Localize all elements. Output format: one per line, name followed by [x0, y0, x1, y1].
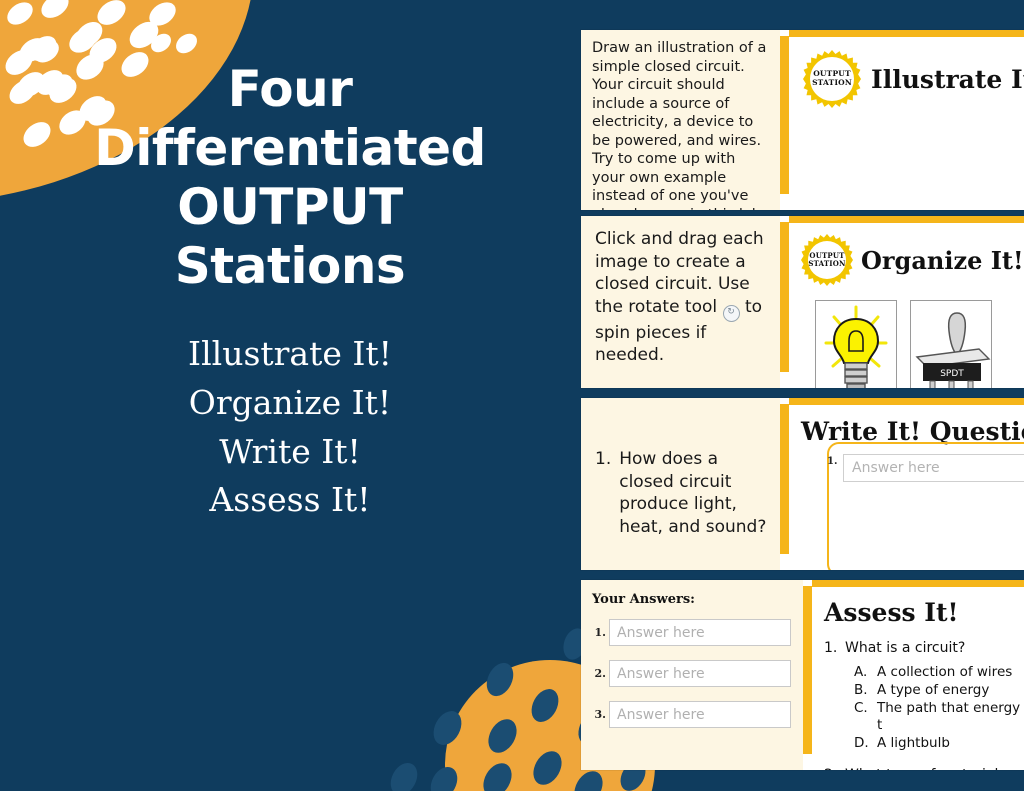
assess-question-number: 2: [824, 767, 836, 770]
assess-answer-input[interactable]: Answer here: [609, 619, 791, 646]
assess-answer-row[interactable]: 2. Answer here: [592, 660, 791, 687]
write-question-text: How does a closed circuit produce light,…: [619, 448, 768, 538]
station-list-item-organize: Organize It!: [30, 379, 550, 428]
assess-choice-letter: D.: [854, 735, 868, 753]
write-answer-number: 1.: [827, 456, 837, 467]
badge-line-2: STATION: [808, 260, 845, 268]
assess-choice[interactable]: B. A type of energy: [854, 682, 1024, 700]
card-organize-instruction-panel: Click and drag each image to create a cl…: [581, 216, 780, 388]
assess-answer-number: 1.: [592, 626, 606, 639]
poster-canvas: Four Differentiated OUTPUT Stations Illu…: [0, 0, 1024, 791]
station-list-item-assess: Assess It!: [30, 476, 550, 525]
write-heading: Write It! Question: [799, 406, 1024, 446]
write-question-block: 1. How does a closed circuit produce lig…: [581, 398, 780, 538]
card-write-gold-rule: [780, 404, 789, 554]
station-list-item-write: Write It!: [30, 428, 550, 477]
assess-choice[interactable]: D. A lightbulb: [854, 735, 1024, 753]
assess-question-number: 1.: [824, 640, 836, 656]
lightbulb-icon: [816, 301, 896, 388]
title-line-4: Stations: [175, 237, 405, 295]
assess-choice-text: A collection of wires: [877, 664, 1012, 682]
organize-heading: Organize It!: [861, 246, 1024, 275]
assess-answer-input[interactable]: Answer here: [609, 701, 791, 728]
assess-answer-number: 2.: [592, 667, 606, 680]
output-station-badge-icon: OUTPUT STATION: [801, 234, 853, 286]
assess-choice[interactable]: A. A collection of wires: [854, 664, 1024, 682]
card-write-it[interactable]: 1. How does a closed circuit produce lig…: [581, 398, 1024, 570]
assess-question: 2 What type of material does: [824, 767, 1024, 770]
organize-image-tiles: SPDT: [815, 300, 1024, 388]
write-question-number: 1.: [595, 448, 611, 538]
assess-choice-letter: A.: [854, 664, 868, 682]
title-line-3: OUTPUT: [177, 178, 403, 236]
card-illustrate-gold-rule: [780, 36, 789, 194]
card-write-top-rule: [789, 398, 1024, 405]
assess-question: 1. What is a circuit?: [824, 640, 1024, 656]
assess-choice-text: A lightbulb: [877, 735, 950, 753]
title-line-2: Differentiated: [94, 119, 486, 177]
svg-text:SPDT: SPDT: [940, 369, 964, 379]
title-line-1: Four: [228, 60, 353, 118]
card-assess-content-panel: Assess It! 1. What is a circuit? A. A co…: [812, 580, 1024, 770]
assess-question-text: What is a circuit?: [845, 640, 965, 656]
output-station-badge-icon: OUTPUT STATION: [803, 50, 861, 108]
illustrate-heading: Illustrate It!: [871, 65, 1024, 94]
card-organize-top-rule: [789, 216, 1024, 223]
illustrate-instruction-text: Draw an illustration of a simple closed …: [581, 30, 780, 210]
assess-answers-label: Your Answers:: [592, 592, 791, 607]
tile-spdt-switch[interactable]: SPDT: [910, 300, 992, 388]
assess-choice-letter: C.: [854, 700, 868, 736]
organize-instruction-before: Click and drag each image to create a cl…: [595, 229, 764, 317]
card-organize-gold-rule: [780, 222, 789, 372]
assess-answer-input[interactable]: Answer here: [609, 660, 791, 687]
assess-choice-text: A type of energy: [877, 682, 989, 700]
card-assess-top-rule: [812, 580, 1024, 587]
assess-choice-letter: B.: [854, 682, 868, 700]
assess-heading: Assess It!: [824, 590, 1024, 627]
card-illustrate-top-rule: [789, 30, 1024, 37]
card-assess-answers-panel: Your Answers: 1. Answer here 2. Answer h…: [581, 580, 803, 770]
rotate-tool-icon: ↻: [723, 305, 740, 322]
card-write-content-panel: Write It! Question 1. Answer here: [789, 398, 1024, 570]
assess-answer-row[interactable]: 3. Answer here: [592, 701, 791, 728]
card-organize-content-panel: OUTPUT STATION Organize It!: [789, 216, 1024, 388]
card-illustrate-content-panel: OUTPUT STATION Illustrate It!: [789, 30, 1024, 210]
station-list-item-illustrate: Illustrate It!: [30, 330, 550, 379]
assess-question-text: What type of material does: [845, 767, 1024, 770]
write-answer-wavy-frame: 1. Answer here: [827, 442, 1024, 570]
card-write-instruction-panel: 1. How does a closed circuit produce lig…: [581, 398, 780, 570]
assess-answer-number: 3.: [592, 708, 606, 721]
card-assess-gold-rule: [803, 586, 812, 754]
card-illustrate-instruction-panel: Draw an illustration of a simple closed …: [581, 30, 780, 210]
assess-choice[interactable]: C. The path that energy t: [854, 700, 1024, 736]
card-illustrate-it[interactable]: Draw an illustration of a simple closed …: [581, 30, 1024, 210]
card-organize-it[interactable]: Click and drag each image to create a cl…: [581, 216, 1024, 388]
screenshot-card-stack: Draw an illustration of a simple closed …: [581, 0, 1024, 791]
station-list: Illustrate It! Organize It! Write It! As…: [30, 330, 550, 525]
organize-instruction-text: Click and drag each image to create a cl…: [581, 216, 780, 367]
assess-question-list: 1. What is a circuit? A. A collection of…: [824, 640, 1024, 770]
page-title: Four Differentiated OUTPUT Stations: [30, 60, 550, 296]
assess-choice-text: The path that energy t: [877, 700, 1024, 736]
badge-line-2: STATION: [812, 79, 852, 88]
spdt-switch-icon: SPDT: [911, 301, 991, 388]
assess-answer-row[interactable]: 1. Answer here: [592, 619, 791, 646]
card-assess-it[interactable]: Your Answers: 1. Answer here 2. Answer h…: [581, 580, 1024, 770]
tile-lightbulb[interactable]: [815, 300, 897, 388]
write-answer-input[interactable]: Answer here: [843, 454, 1024, 482]
poster-text-column: Four Differentiated OUTPUT Stations Illu…: [30, 60, 550, 525]
